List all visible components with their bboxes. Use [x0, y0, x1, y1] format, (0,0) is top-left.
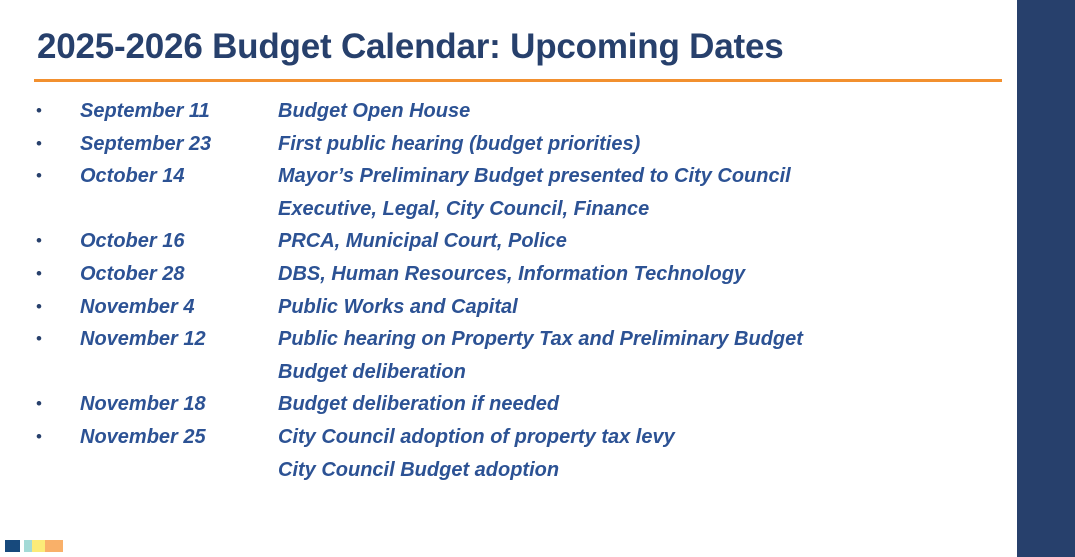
color-block-teal	[24, 540, 32, 552]
agenda-row-date: October 14	[80, 162, 184, 190]
agenda-row: •September 11Budget Open House	[0, 97, 1000, 130]
bullet-icon: •	[36, 102, 45, 120]
agenda-row-date: November 18	[80, 390, 206, 418]
bullet-icon: •	[36, 428, 45, 446]
agenda-row: •November 12Public hearing on Property T…	[0, 325, 1000, 358]
agenda-row-date: October 28	[80, 260, 184, 288]
bullet-icon: •	[36, 232, 45, 250]
agenda-row: •October 16PRCA, Municipal Court, Police	[0, 227, 1000, 260]
agenda-row-description: Budget deliberation if needed	[278, 390, 559, 418]
bullet-icon: •	[36, 395, 45, 413]
agenda-row-date: November 25	[80, 423, 206, 451]
agenda-row-date: September 23	[80, 130, 211, 158]
agenda-row: •October 14Mayor’s Preliminary Budget pr…	[0, 162, 1000, 195]
agenda-row-description: Public hearing on Property Tax and Preli…	[278, 325, 803, 353]
bullet-icon: •	[36, 265, 45, 283]
page-title: 2025-2026 Budget Calendar: Upcoming Date…	[37, 27, 987, 67]
agenda-row-description: DBS, Human Resources, Information Techno…	[278, 260, 745, 288]
agenda-row-date: November 12	[80, 325, 206, 353]
color-block-yellow	[32, 540, 45, 552]
agenda-row: City Council Budget adoption	[0, 456, 1000, 489]
bullet-icon: •	[36, 135, 45, 153]
agenda-row-description: Budget Open House	[278, 97, 470, 125]
agenda-row-description: Budget deliberation	[278, 358, 466, 386]
agenda-row-description: Public Works and Capital	[278, 293, 518, 321]
color-block-orange	[45, 540, 63, 552]
agenda-row: •October 28DBS, Human Resources, Informa…	[0, 260, 1000, 293]
bullet-icon: •	[36, 167, 45, 185]
agenda-row: •November 4Public Works and Capital	[0, 293, 1000, 326]
agenda-row: Executive, Legal, City Council, Finance	[0, 195, 1000, 228]
color-block-navy	[5, 540, 20, 552]
agenda-list: •September 11Budget Open House•September…	[0, 97, 1000, 488]
agenda-row-description: First public hearing (budget priorities)	[278, 130, 640, 158]
agenda-row-date: November 4	[80, 293, 195, 321]
title-underline-rule	[34, 79, 1002, 82]
agenda-row: Budget deliberation	[0, 358, 1000, 391]
right-accent-band	[1017, 0, 1075, 557]
agenda-row: •November 25City Council adoption of pro…	[0, 423, 1000, 456]
agenda-row-date: September 11	[80, 97, 210, 125]
agenda-row: •November 18Budget deliberation if neede…	[0, 390, 1000, 423]
agenda-row-description: City Council adoption of property tax le…	[278, 423, 675, 451]
agenda-row-date: October 16	[80, 227, 184, 255]
agenda-row-description: Executive, Legal, City Council, Finance	[278, 195, 649, 223]
agenda-row-description: Mayor’s Preliminary Budget presented to …	[278, 162, 791, 190]
agenda-row-description: City Council Budget adoption	[278, 456, 559, 484]
slide-canvas: 2025-2026 Budget Calendar: Upcoming Date…	[0, 0, 1075, 557]
agenda-row: •September 23First public hearing (budge…	[0, 130, 1000, 163]
bullet-icon: •	[36, 330, 45, 348]
bullet-icon: •	[36, 298, 45, 316]
agenda-row-description: PRCA, Municipal Court, Police	[278, 227, 567, 255]
